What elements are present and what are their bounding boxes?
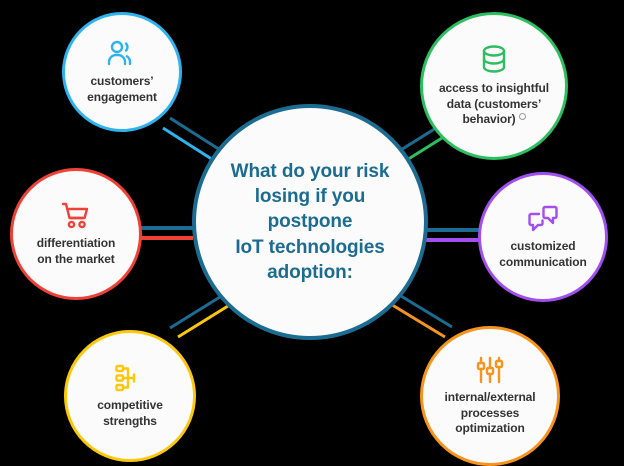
label-line-2: strengths <box>97 414 163 430</box>
central-question-text: What do your risk losing if you postpone… <box>196 159 424 284</box>
database-icon <box>479 44 509 76</box>
label-line-1: customers’ <box>87 74 157 90</box>
label-line-2: on the market <box>37 252 116 268</box>
node-processes-optimization[interactable]: internal/external processes optimization <box>420 326 560 466</box>
sliders-icon <box>474 355 506 385</box>
central-line-4: adoption: <box>212 260 408 285</box>
connector-differentiation <box>141 228 193 238</box>
label-line-3: optimization <box>444 421 535 437</box>
diagram-canvas: What do your risk losing if you postpone… <box>0 0 624 465</box>
node-differentiation[interactable]: differentiation on the market <box>10 168 142 300</box>
small-circle-mark <box>519 113 526 120</box>
label-line-1: differentiation <box>37 236 116 252</box>
label-line-2: processes <box>444 406 535 422</box>
central-line-1: What do your risk <box>212 159 408 184</box>
chat-bubbles-icon <box>527 204 559 234</box>
hierarchy-icon <box>114 363 146 393</box>
node-label: access to insightful data (customers’ be… <box>431 81 557 128</box>
node-customized-communication[interactable]: customized communication <box>478 172 608 302</box>
central-question-node: What do your risk losing if you postpone… <box>192 104 428 340</box>
node-label: customized communication <box>493 239 592 270</box>
label-line-1: access to insightful <box>439 81 549 97</box>
label-line-2: communication <box>499 255 586 271</box>
label-line-2: data (customers’ <box>439 97 549 113</box>
shopping-cart-icon <box>60 201 92 231</box>
label-line-2: engagement <box>87 90 157 106</box>
node-competitive-strengths[interactable]: competitive strengths <box>64 330 196 462</box>
node-label: internal/external processes optimization <box>436 390 543 437</box>
label-line-1: competitive <box>97 398 163 414</box>
node-label: competitive strengths <box>91 398 169 429</box>
central-line-2: losing if you postpone <box>212 184 408 234</box>
node-label: differentiation on the market <box>31 236 122 267</box>
node-label: customers’ engagement <box>81 74 163 105</box>
label-line-3: behavior) <box>439 112 549 128</box>
users-icon <box>106 39 138 69</box>
node-customers-engagement[interactable]: customers’ engagement <box>62 12 182 132</box>
connector-customized-communication <box>426 230 481 240</box>
label-line-3-text: behavior) <box>462 112 515 126</box>
central-line-3: IoT technologies <box>212 235 408 260</box>
node-insightful-data[interactable]: access to insightful data (customers’ be… <box>420 12 568 160</box>
label-line-1: customized <box>499 239 586 255</box>
label-line-1: internal/external <box>444 390 535 406</box>
